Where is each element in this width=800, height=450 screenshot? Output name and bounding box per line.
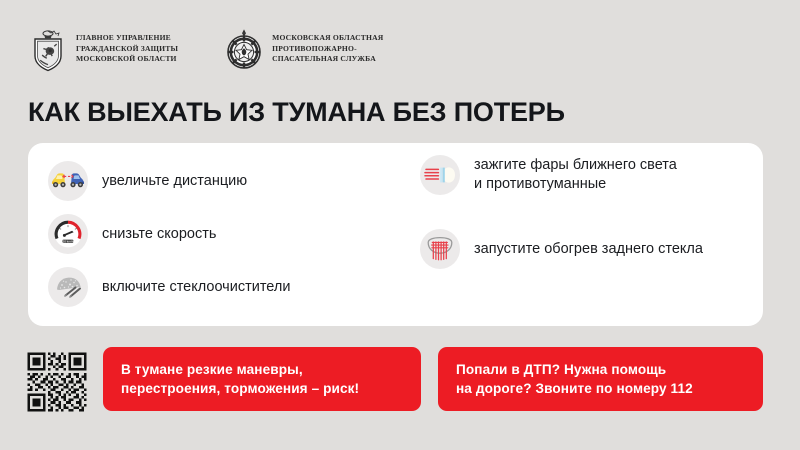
logo-civil-defense: ГЛАВНОЕ УПРАВЛЕНИЕ ГРАЖДАНСКОЙ ЗАЩИТЫ МО… (28, 28, 178, 72)
logo-civil-defense-text: ГЛАВНОЕ УПРАВЛЕНИЕ ГРАЖДАНСКОЙ ЗАЩИТЫ МО… (76, 28, 178, 65)
warning-banner-text: В тумане резкие маневры, перестроения, т… (103, 360, 359, 398)
logo-fire-rescue: МОСКОВСКАЯ ОБЛАСТНАЯ ПРОТИВОПОЖАРНО- СПА… (224, 28, 383, 72)
tip-label: зажгите фары ближнего света и противотум… (474, 156, 677, 194)
qr-code[interactable] (25, 350, 89, 414)
headlight-beam-icon (420, 155, 460, 195)
logo-line-2: ПРОТИВОПОЖАРНО- (272, 44, 383, 55)
fire-rescue-service-emblem-icon (224, 28, 264, 72)
logo-fire-rescue-text: МОСКОВСКАЯ ОБЛАСТНАЯ ПРОТИВОПОЖАРНО- СПА… (272, 28, 383, 65)
tip-label: включите стеклоочистители (102, 278, 290, 297)
coat-of-arms-moscow-region-icon (28, 28, 68, 72)
emergency-banner: Попали в ДТП? Нужна помощь на дороге? Зв… (438, 347, 763, 411)
header-logos: ГЛАВНОЕ УПРАВЛЕНИЕ ГРАЖДАНСКОЙ ЗАЩИТЫ МО… (28, 28, 383, 72)
logo-line-3: МОСКОВСКОЙ ОБЛАСТИ (76, 54, 178, 65)
tips-card: увеличьте дистанцию 20 km/h (28, 143, 763, 326)
windshield-wipers-icon (48, 267, 88, 307)
tip-increase-distance: увеличьте дистанцию (48, 161, 247, 201)
tip-rear-window-defogger: запустите обогрев заднего стекла (420, 229, 703, 269)
tip-turn-on-headlights: зажгите фары ближнего света и противотум… (420, 155, 677, 195)
page-title: КАК ВЫЕХАТЬ ИЗ ТУМАНА БЕЗ ПОТЕРЬ (28, 97, 565, 128)
tip-label: увеличьте дистанцию (102, 172, 247, 191)
tip-label: запустите обогрев заднего стекла (474, 240, 703, 259)
speedometer-icon: 20 km/h (48, 214, 88, 254)
logo-line-1: ГЛАВНОЕ УПРАВЛЕНИЕ (76, 33, 178, 44)
tip-reduce-speed: 20 km/h снизьте скорость (48, 214, 216, 254)
logo-line-2: ГРАЖДАНСКОЙ ЗАЩИТЫ (76, 44, 178, 55)
tip-label: снизьте скорость (102, 225, 216, 244)
svg-text:20 km/h: 20 km/h (62, 239, 73, 243)
emergency-banner-text: Попали в ДТП? Нужна помощь на дороге? Зв… (438, 360, 693, 398)
logo-line-3: СПАСАТЕЛЬНАЯ СЛУЖБА (272, 54, 383, 65)
rear-window-defogger-icon (420, 229, 460, 269)
warning-banner: В тумане резкие маневры, перестроения, т… (103, 347, 421, 411)
logo-line-1: МОСКОВСКАЯ ОБЛАСТНАЯ (272, 33, 383, 44)
two-cars-distance-icon (48, 161, 88, 201)
tip-turn-on-wipers: включите стеклоочистители (48, 267, 290, 307)
